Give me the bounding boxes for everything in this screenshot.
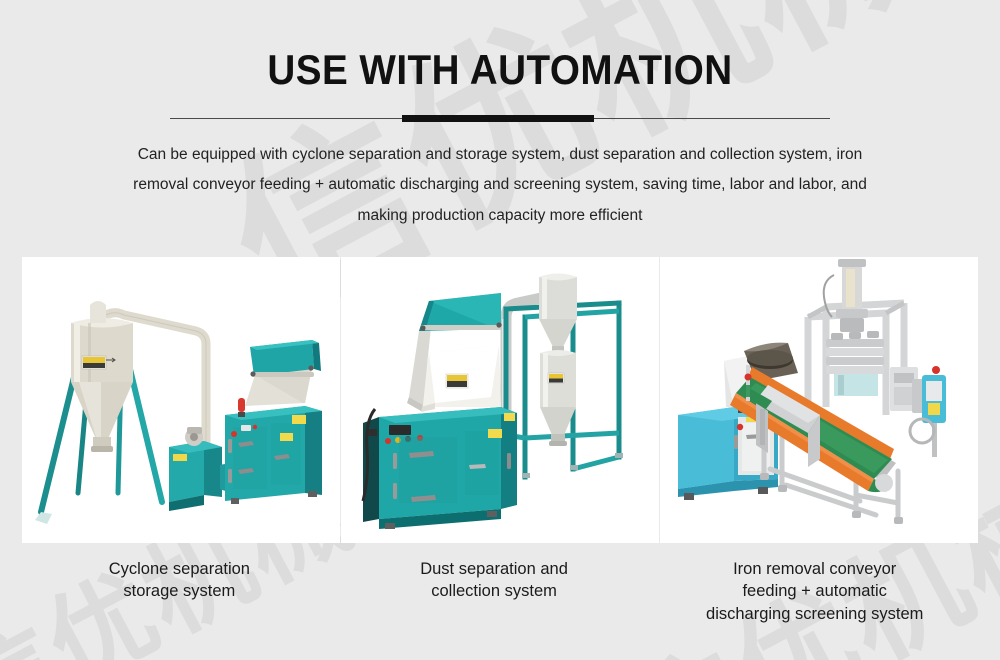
page-title: USE WITH AUTOMATION [40,48,960,92]
photo-cyclone-separation-storage-system [22,257,340,543]
caption-line: Cyclone separation [22,558,337,580]
page-description: Can be equipped with cyclone separation … [120,140,880,231]
gallery-card-conveyor[interactable] [660,257,978,543]
title-divider [170,114,830,124]
caption-line: Dust separation and [337,558,652,580]
caption-line: storage system [22,580,337,602]
gallery [22,257,978,543]
caption-conveyor: Iron removal conveyor feeding + automati… [651,558,978,625]
caption-line: feeding + automatic [651,580,978,602]
photo-dust-separation-collection-system [341,257,659,543]
divider-accent-bar [402,115,594,122]
caption-line: discharging screening system [651,603,978,625]
photo-iron-removal-conveyor-system [660,257,978,543]
caption-cyclone: Cyclone separation storage system [22,558,337,625]
caption-line: Iron removal conveyor [651,558,978,580]
gallery-captions: Cyclone separation storage system Dust s… [22,558,978,625]
gallery-card-dust[interactable] [341,257,659,543]
gallery-card-cyclone[interactable] [22,257,340,543]
caption-dust: Dust separation and collection system [337,558,652,625]
caption-line: collection system [337,580,652,602]
promo-page: 信优机械 信优机械 信优机械 USE WITH AUTOMATION Can b… [0,0,1000,660]
header: USE WITH AUTOMATION Can be equipped with… [0,0,1000,231]
